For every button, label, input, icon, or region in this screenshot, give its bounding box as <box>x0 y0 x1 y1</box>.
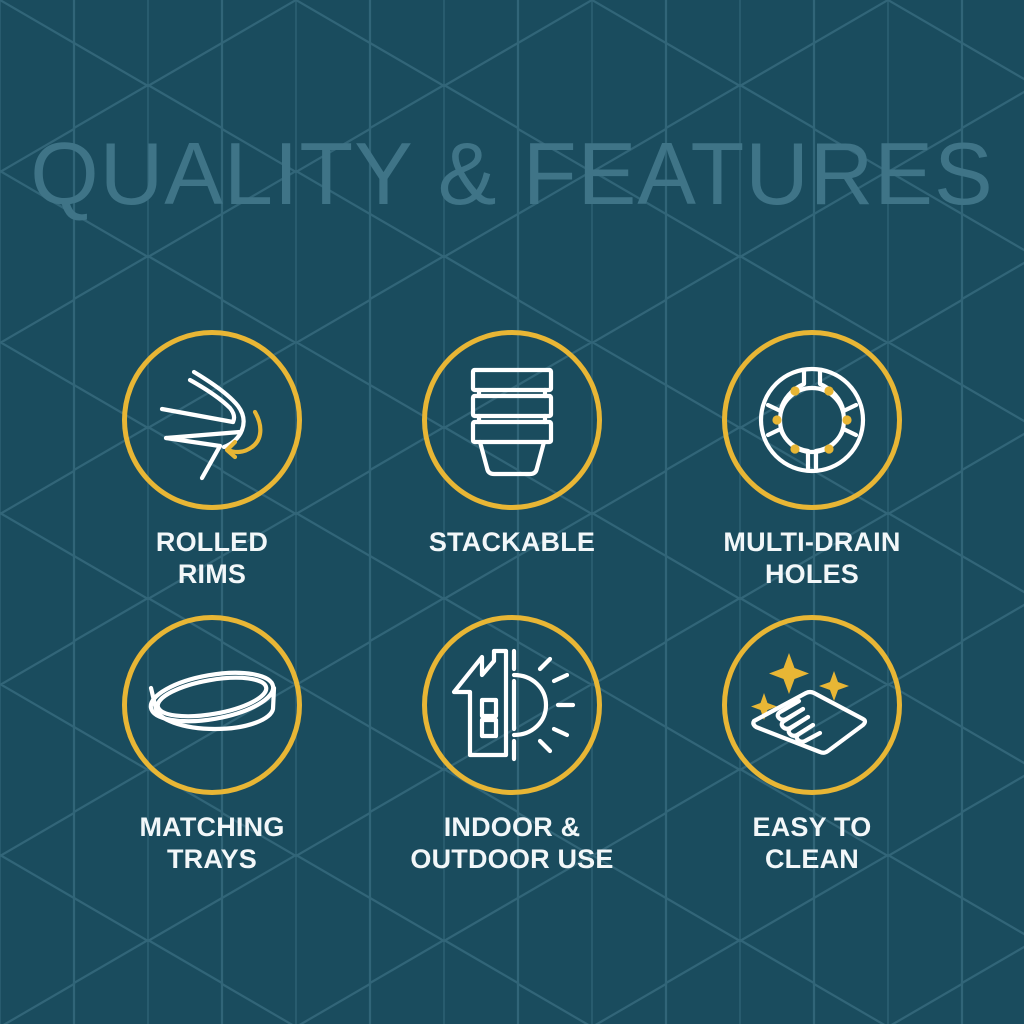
feature-label: STACKABLE <box>429 527 595 559</box>
feature-grid: ROLLED RIMS STACKABL <box>62 330 962 900</box>
feature-label: EASY TO CLEAN <box>753 812 872 875</box>
feature-item-indoor-outdoor[interactable]: INDOOR & OUTDOOR USE <box>362 615 662 900</box>
drain-holes-icon <box>742 350 882 490</box>
feature-label: ROLLED RIMS <box>156 527 268 590</box>
hand-wipe-sparkle-icon <box>742 635 882 775</box>
feature-badge <box>122 615 302 795</box>
feature-item-multi-drain-holes[interactable]: MULTI-DRAIN HOLES <box>662 330 962 615</box>
feature-badge <box>722 615 902 795</box>
house-sun-icon <box>442 635 582 775</box>
feature-item-matching-trays[interactable]: MATCHING TRAYS <box>62 615 362 900</box>
feature-label: INDOOR & OUTDOOR USE <box>410 812 613 875</box>
feature-item-rolled-rims[interactable]: ROLLED RIMS <box>62 330 362 615</box>
rolled-rim-icon <box>142 350 282 490</box>
feature-item-stackable[interactable]: STACKABLE <box>362 330 662 615</box>
feature-graphic: QUALITY & FEATURES <box>0 0 1024 1024</box>
feature-badge <box>422 615 602 795</box>
feature-badge <box>722 330 902 510</box>
feature-item-easy-to-clean[interactable]: EASY TO CLEAN <box>662 615 962 900</box>
stacked-pots-icon <box>442 350 582 490</box>
feature-badge <box>122 330 302 510</box>
feature-label: MULTI-DRAIN HOLES <box>723 527 900 590</box>
feature-label: MATCHING TRAYS <box>139 812 284 875</box>
tray-icon <box>142 635 282 775</box>
page-title: QUALITY & FEATURES <box>0 130 1024 218</box>
feature-badge <box>422 330 602 510</box>
